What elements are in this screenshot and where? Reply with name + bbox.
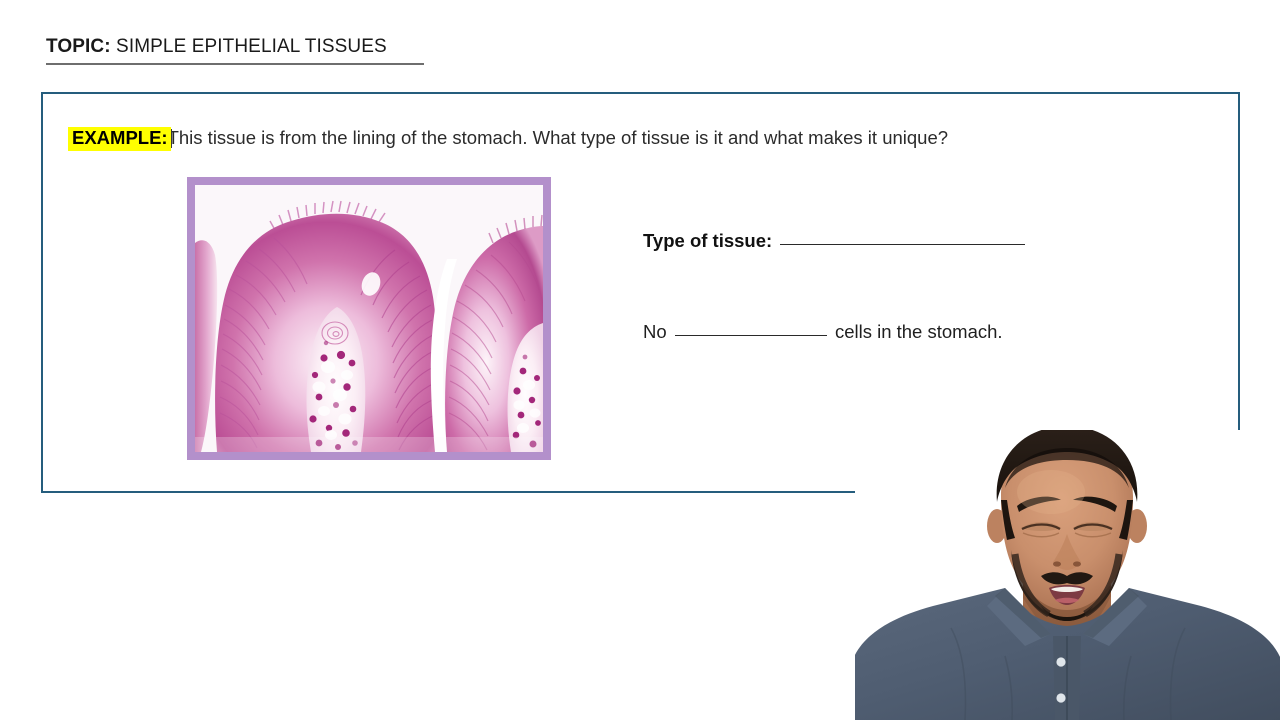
answer-label-no: No — [643, 321, 667, 342]
example-tag-highlight: EXAMPLE: — [68, 127, 171, 151]
instructor-video-overlay[interactable] — [855, 430, 1280, 720]
page-title: TOPIC: SIMPLE EPITHELIAL TISSUES — [46, 36, 387, 58]
answer-row-no-cells: No cells in the stomach. — [643, 321, 1003, 343]
nostril-right — [1073, 561, 1081, 566]
topic-underline-divider — [46, 63, 424, 65]
answer-label-type-of-tissue: Type of tissue: — [643, 230, 772, 251]
example-prompt: EXAMPLE:This tissue is from the lining o… — [68, 127, 948, 151]
nostril-left — [1053, 561, 1061, 566]
instructor-portrait — [855, 430, 1280, 720]
topic-value: SIMPLE EPITHELIAL TISSUES — [116, 36, 387, 57]
text-caret-icon — [171, 129, 172, 148]
answer-blank-cell-type[interactable] — [675, 335, 827, 336]
forehead-highlight — [1017, 470, 1085, 514]
shirt-button-top — [1056, 657, 1065, 666]
shirt-button-bottom — [1056, 693, 1065, 702]
topic-label: TOPIC: — [46, 36, 111, 57]
answer-blank-type-of-tissue[interactable] — [780, 244, 1025, 245]
example-question-text: This tissue is from the lining of the st… — [168, 129, 948, 148]
answer-row-type-of-tissue: Type of tissue: — [643, 230, 1028, 252]
answer-suffix-cells-in-stomach: cells in the stomach. — [835, 321, 1003, 342]
